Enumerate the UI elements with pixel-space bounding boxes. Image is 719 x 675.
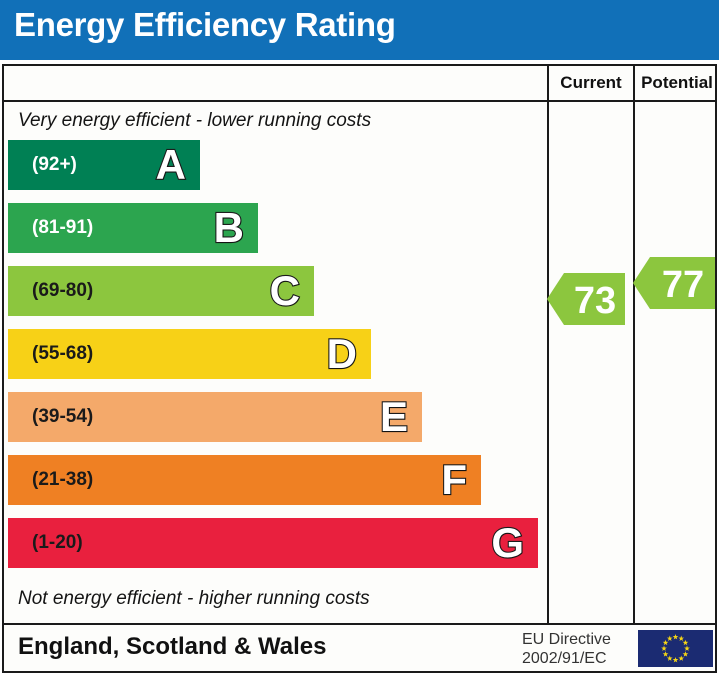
band-row-d: (55-68) D [8,329,371,379]
band-row-e: (39-54) E [8,392,422,442]
band-range-f: (21-38) [32,455,93,505]
eu-flag-icon [638,630,713,667]
footer-directive: EU Directive 2002/91/EC [522,630,628,668]
band-letter-a: A [156,140,186,190]
caption-efficient: Very energy efficient - lower running co… [18,110,371,132]
band-row-f: (21-38) F [8,455,481,505]
band-letter-g: G [491,518,524,568]
band-row-c: (69-80) C [8,266,314,316]
footer-directive-line1: EU Directive [522,630,628,649]
table-footer-row: England, Scotland & Wales EU Directive 2… [4,623,715,671]
band-list: (92+) A (81-91) B (69-80) C (55-68) D (3… [4,140,547,580]
column-header-current: Current [547,66,633,100]
potential-rating-value: 77 [662,264,704,306]
page-title: Energy Efficiency Rating [14,6,396,44]
column-divider-1 [547,102,549,623]
band-row-g: (1-20) G [8,518,538,568]
potential-rating-marker: 77 [633,252,715,314]
band-range-e: (39-54) [32,392,93,442]
band-letter-e: E [380,392,408,442]
band-range-g: (1-20) [32,518,83,568]
caption-inefficient: Not energy efficient - higher running co… [18,588,370,610]
band-letter-d: D [327,329,357,379]
band-row-b: (81-91) B [8,203,258,253]
current-rating-value: 73 [574,280,616,322]
band-range-b: (81-91) [32,203,93,253]
band-letter-b: B [214,203,244,253]
table-header-row: Current Potential [4,66,715,102]
epc-certificate: Energy Efficiency Rating Current Potenti… [0,0,719,675]
band-row-a: (92+) A [8,140,200,190]
band-range-c: (69-80) [32,266,93,316]
footer-directive-line2: 2002/91/EC [522,649,628,668]
column-header-potential: Potential [633,66,719,100]
rating-table: Current Potential Very energy efficient … [2,64,717,673]
band-range-a: (92+) [32,140,77,190]
current-rating-marker: 73 [547,268,625,330]
title-bar: Energy Efficiency Rating [0,0,719,60]
footer-region-label: England, Scotland & Wales [18,633,326,661]
column-divider-2 [633,102,635,623]
band-range-d: (55-68) [32,329,93,379]
band-letter-c: C [270,266,300,316]
band-letter-f: F [441,455,467,505]
